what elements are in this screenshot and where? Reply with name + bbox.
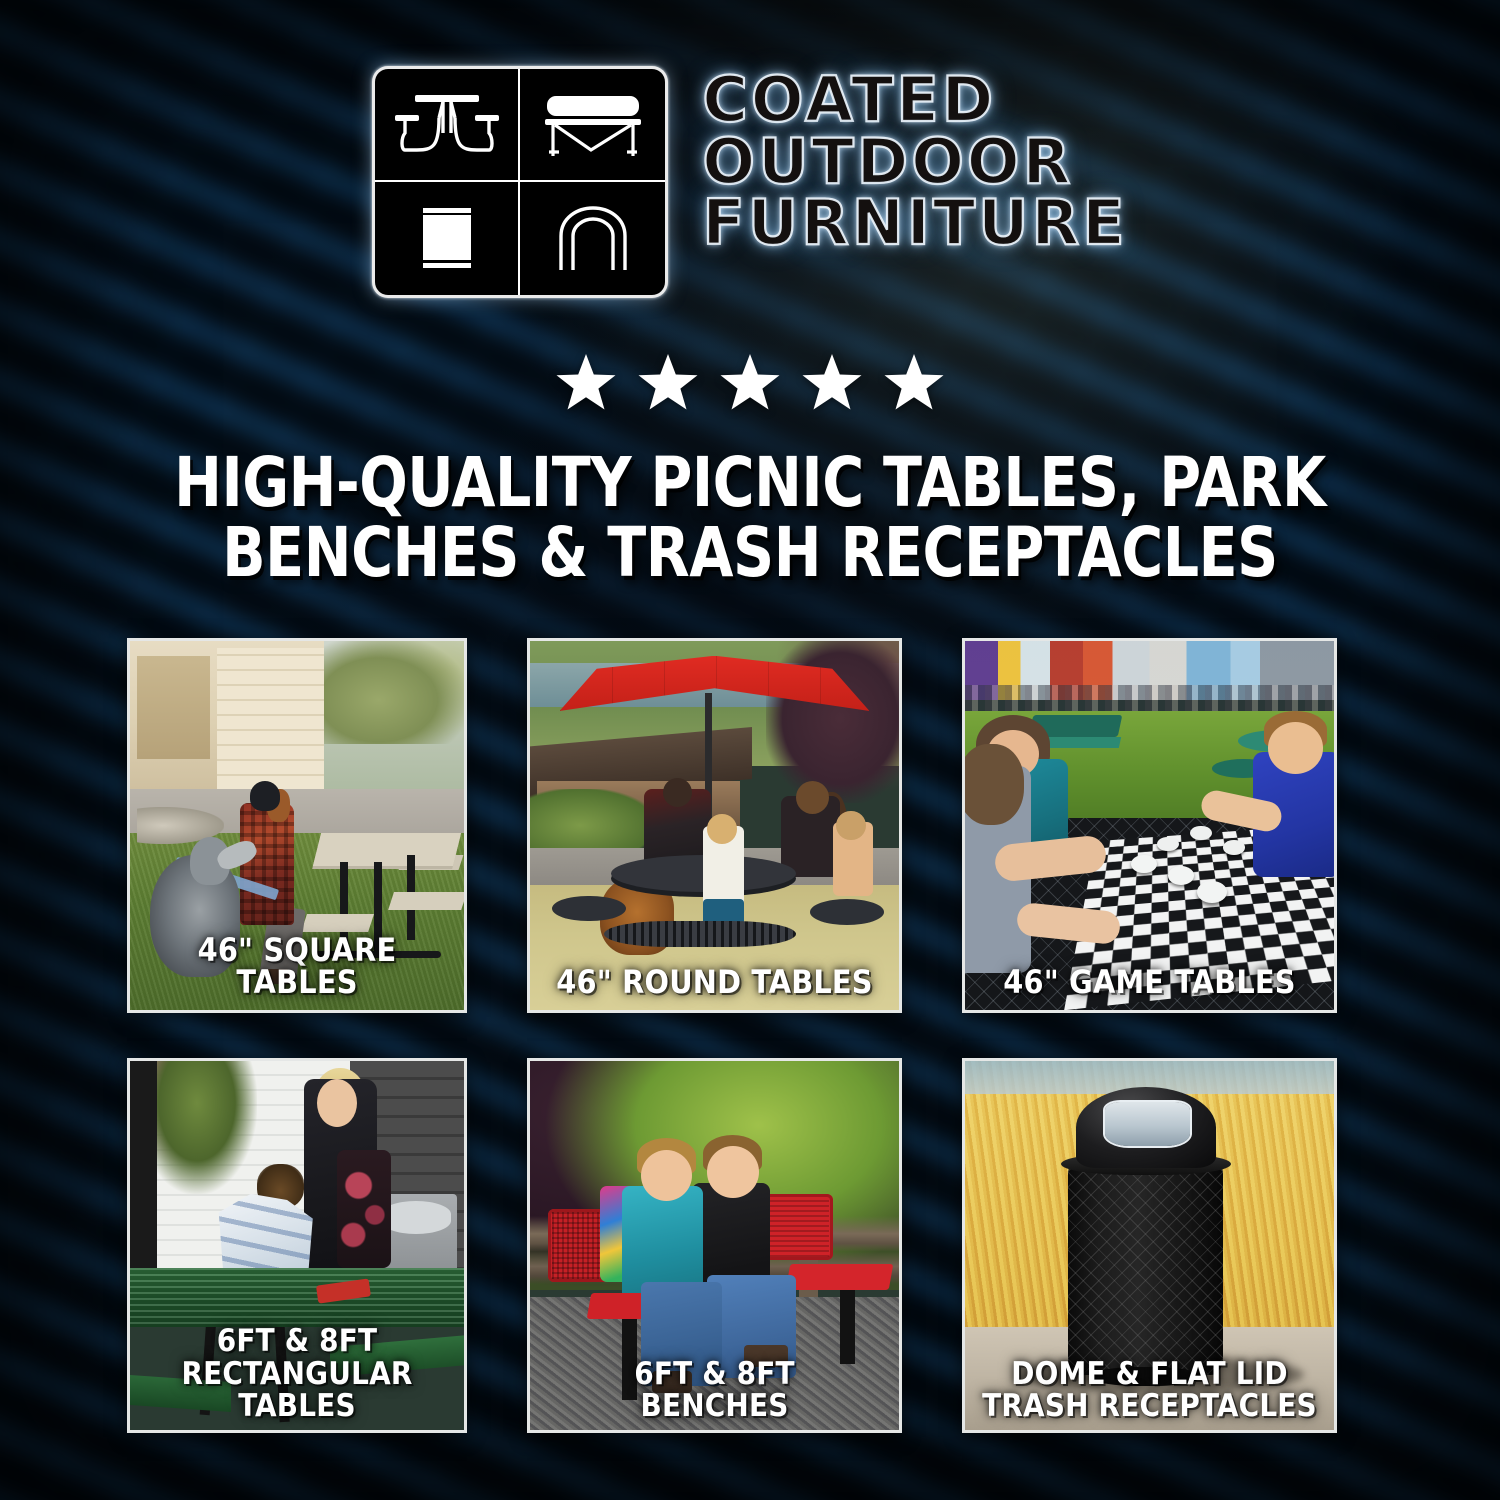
product-tile-square-tables[interactable]: 46" SQUARE TABLES [127,638,467,1013]
photo-game-tables [965,641,1334,1010]
brand-logo-mark [372,66,668,298]
brand-name-line-3: FURNITURE [702,193,1127,253]
tile-caption: 6FT & 8FT RECTANGULAR TABLES [136,1325,458,1422]
product-tile-trash-receptacles[interactable]: DOME & FLAT LID TRASH RECEPTACLES [962,1058,1337,1433]
product-tile-rectangular-tables[interactable]: 6FT & 8FT RECTANGULAR TABLES [127,1058,467,1433]
star-icon [719,352,781,412]
bench-icon [520,69,665,182]
tile-caption: 6FT & 8FT BENCHES [536,1358,893,1422]
headline-line-2: BENCHES & TRASH RECEPTACLES [115,518,1385,588]
picnic-table-icon [375,69,520,182]
brand-name-line-1: COATED [702,70,1127,130]
star-icon [801,352,863,412]
product-tile-round-tables[interactable]: 46" ROUND TABLES [527,638,902,1013]
tile-caption: 46" GAME TABLES [971,966,1328,998]
product-tile-benches[interactable]: 6FT & 8FT BENCHES [527,1058,902,1433]
page-title: HIGH-QUALITY PICNIC TABLES, PARK BENCHES… [115,448,1385,589]
star-icon [555,352,617,412]
bike-rack-icon [520,182,665,295]
star-icon [637,352,699,412]
tile-caption: 46" ROUND TABLES [536,966,893,998]
trash-receptacle-icon [375,182,520,295]
tile-caption: 46" SQUARE TABLES [136,934,458,998]
star-rating [0,352,1500,412]
tile-caption: DOME & FLAT LID TRASH RECEPTACLES [971,1358,1328,1422]
brand-name: COATED OUTDOOR FURNITURE [702,66,1127,253]
product-grid: 46" SQUARE TABLES 46" ROUND TABLES [127,638,1375,1433]
star-icon [883,352,945,412]
brand-name-line-2: OUTDOOR [702,132,1127,192]
photo-round-tables [530,641,899,1010]
product-tile-game-tables[interactable]: 46" GAME TABLES [962,638,1337,1013]
headline-line-1: HIGH-QUALITY PICNIC TABLES, PARK [115,448,1385,518]
promo-banner: COATED OUTDOOR FURNITURE HIGH-QUALITY PI… [0,0,1500,1500]
brand-header: COATED OUTDOOR FURNITURE [0,66,1500,298]
